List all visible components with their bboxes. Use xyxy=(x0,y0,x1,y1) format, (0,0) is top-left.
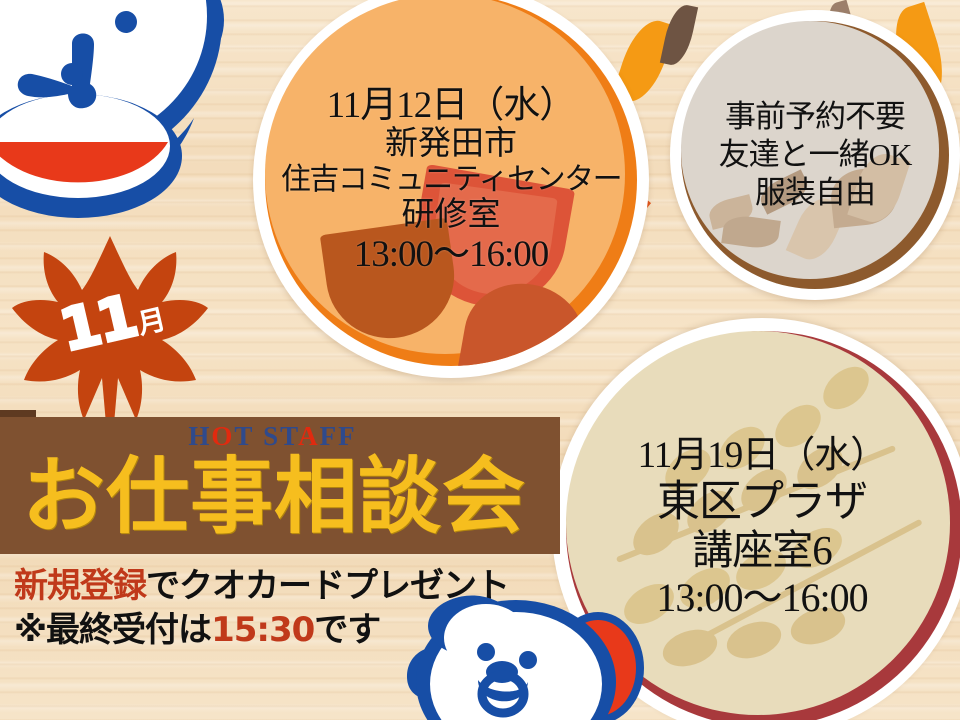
bear-mascot-top-left xyxy=(0,0,246,234)
footer-note-2-time: 15:30 xyxy=(211,610,314,650)
event-a-date: 11月12日（水） xyxy=(327,85,576,126)
bear-mascot-bottom-icon xyxy=(398,592,658,720)
event-b-date: 11月19日（水） xyxy=(638,435,887,478)
notes-line-1: 事前予約不要 xyxy=(725,98,905,136)
poster-canvas: 11月12日（水） 新発田市 住吉コミュニティセンター 研修室 13:00〜16… xyxy=(0,0,960,720)
event-a-city: 新発田市 xyxy=(385,126,517,163)
bear-mascot-bottom xyxy=(398,592,658,720)
event-a-venue: 住吉コミュニティセンター xyxy=(281,163,621,197)
event-a-room: 研修室 xyxy=(402,197,501,234)
event-b-time: 13:00〜16:00 xyxy=(656,575,867,621)
notes-line-3: 服装自由 xyxy=(755,174,875,212)
month-badge: 11月 xyxy=(10,228,210,424)
event-a-time: 13:00〜16:00 xyxy=(354,234,549,275)
page-title: お仕事相談会 xyxy=(0,447,548,547)
month-unit: 月 xyxy=(134,302,169,340)
event-b-venue: 東区プラザ xyxy=(657,478,867,527)
event-b-room: 講座室6 xyxy=(692,527,832,574)
footer-note-2: ※最終受付は15:30です xyxy=(14,602,380,651)
footer-note-1-highlight: 新規登録 xyxy=(14,566,146,606)
footer-note-2-suffix: です xyxy=(314,610,380,650)
notes-line-2: 友達と一緒OK xyxy=(719,136,912,174)
footer-note-2-prefix: ※最終受付は xyxy=(14,610,211,650)
notes-text: 事前予約不要 友達と一緒OK 服装自由 xyxy=(670,10,960,300)
bear-mascot-top-left-icon xyxy=(0,0,246,234)
